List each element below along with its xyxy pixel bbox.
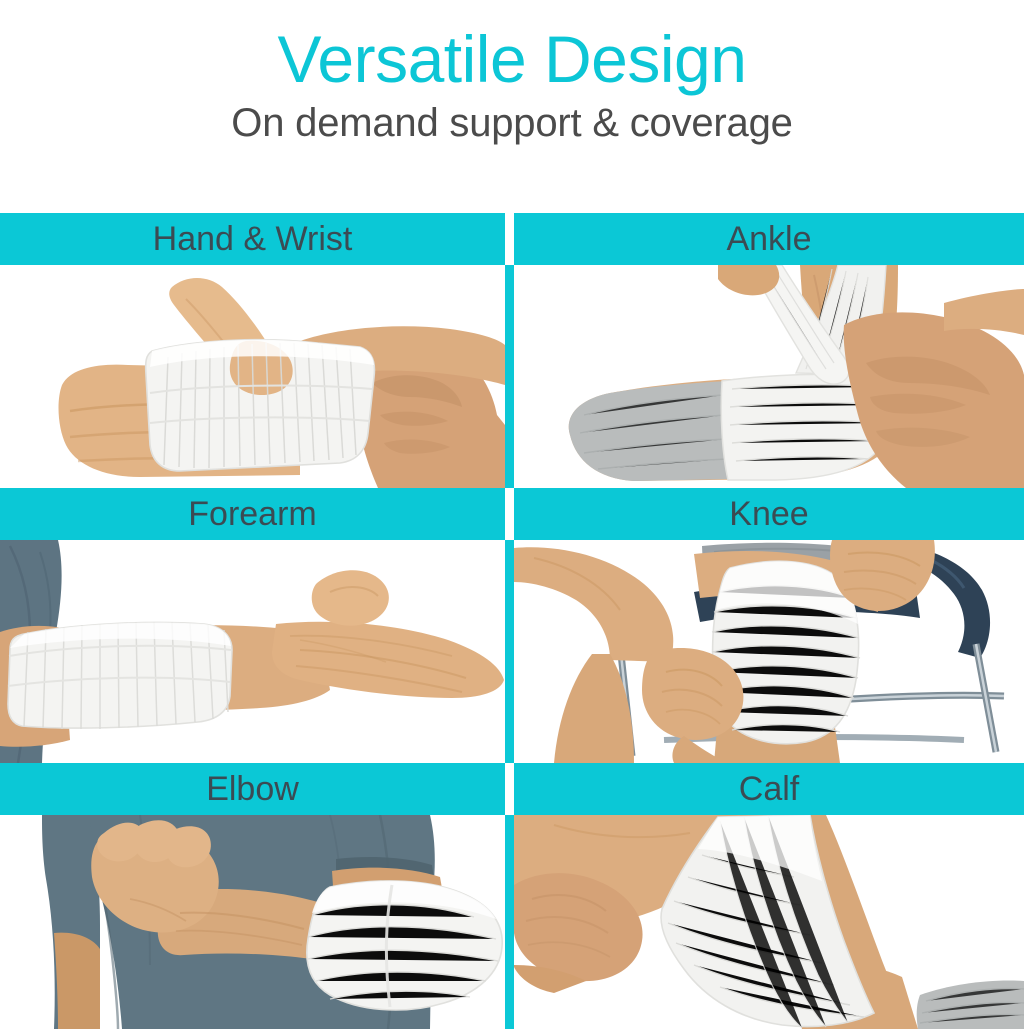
label-row-1: Hand & Wrist Ankle [0, 213, 1024, 265]
hand-wrist-illustration [0, 265, 505, 488]
forearm-illustration [0, 540, 505, 763]
elbow-illustration [0, 815, 505, 1029]
panel-grid: Hand & Wrist Ankle [0, 213, 1024, 1024]
image-gutter-3 [505, 815, 514, 1029]
page-subtitle: On demand support & coverage [231, 101, 792, 145]
label-row-2: Forearm Knee [0, 488, 1024, 540]
header: Versatile Design On demand support & cov… [0, 0, 1024, 213]
label-bar-forearm: Forearm [0, 488, 505, 540]
label-knee: Knee [729, 497, 808, 531]
label-forearm: Forearm [188, 497, 316, 531]
label-gutter-3 [505, 763, 514, 815]
photo-ankle [514, 265, 1024, 488]
label-ankle: Ankle [726, 222, 811, 256]
infographic-page: Versatile Design On demand support & cov… [0, 0, 1024, 1024]
knee-illustration [514, 540, 1024, 763]
ankle-illustration [514, 265, 1024, 488]
image-row-1 [0, 265, 1024, 488]
image-row-3 [0, 815, 1024, 1029]
label-bar-elbow: Elbow [0, 763, 505, 815]
label-hand-wrist: Hand & Wrist [153, 222, 353, 256]
page-title: Versatile Design [278, 24, 747, 95]
label-bar-hand-wrist: Hand & Wrist [0, 213, 505, 265]
image-row-2 [0, 540, 1024, 763]
photo-elbow [0, 815, 505, 1029]
image-gutter-1 [505, 265, 514, 488]
photo-calf [514, 815, 1024, 1029]
label-elbow: Elbow [206, 772, 299, 806]
image-gutter-2 [505, 540, 514, 763]
photo-knee [514, 540, 1024, 763]
photo-forearm [0, 540, 505, 763]
photo-hand-wrist [0, 265, 505, 488]
label-bar-knee: Knee [514, 488, 1024, 540]
label-bar-calf: Calf [514, 763, 1024, 815]
label-calf: Calf [739, 772, 799, 806]
label-gutter-2 [505, 488, 514, 540]
label-gutter-1 [505, 213, 514, 265]
calf-illustration [514, 815, 1024, 1029]
label-row-3: Elbow Calf [0, 763, 1024, 815]
label-bar-ankle: Ankle [514, 213, 1024, 265]
